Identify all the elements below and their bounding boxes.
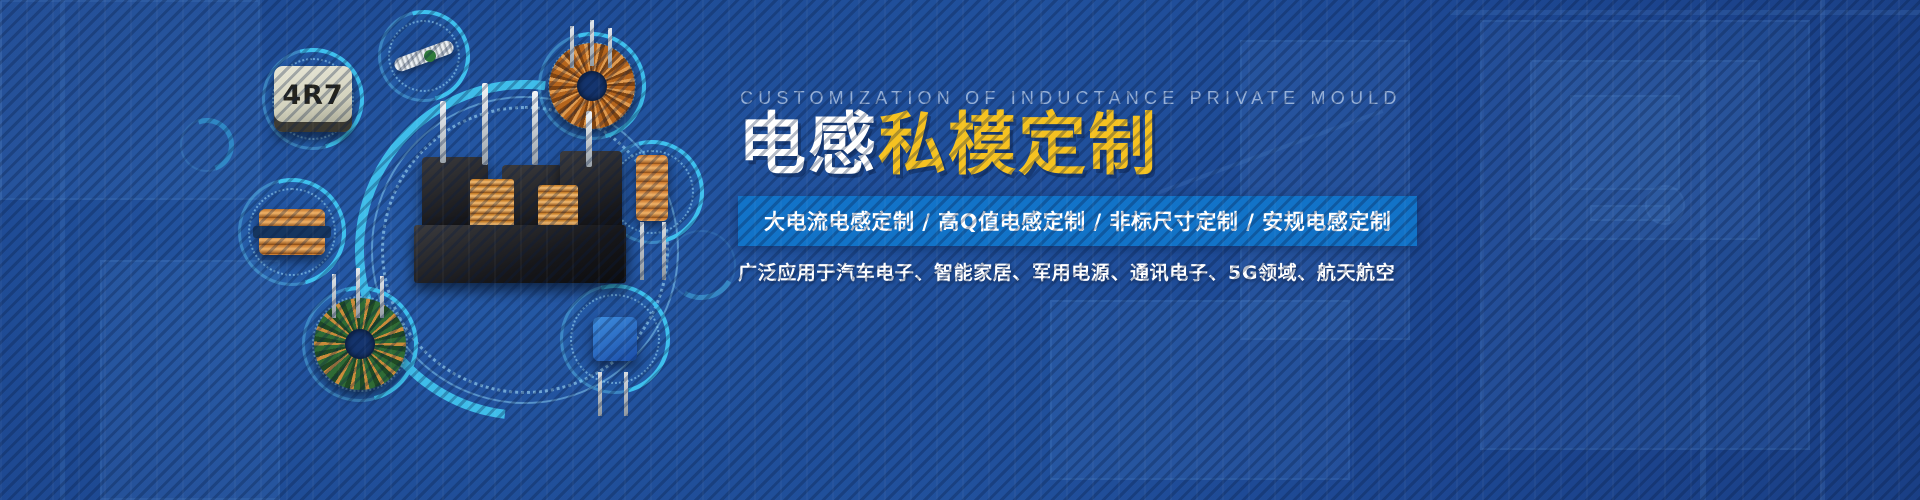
application-description: 广泛应用于汽车电子、智能家居、军用电源、通讯电子、5G领域、航天航空 bbox=[738, 258, 1395, 285]
ring-accent-small-2 bbox=[666, 230, 736, 300]
product-large-common-mode-choke-cluster bbox=[410, 105, 640, 295]
product-air-core-coil bbox=[378, 10, 470, 102]
smd-chip: 4R7 bbox=[274, 66, 352, 132]
page-title: 电感私模定制 bbox=[738, 108, 1158, 184]
product-green-toroidal-inductor bbox=[302, 286, 418, 402]
product-blue-radial-inductor bbox=[560, 284, 670, 394]
banner-text-block: CUSTOMIZATION OF INDUCTANCE PRIVATE MOUL… bbox=[738, 0, 1858, 500]
ring-accent-small bbox=[180, 118, 234, 172]
product-smd-power-inductor: 4R7 bbox=[262, 48, 364, 150]
feature-bar-text: 大电流电感定制 / 高Q值电感定制 / 非标尺寸定制 / 安规电感定制 bbox=[764, 206, 1391, 236]
smd-marking-label: 4R7 bbox=[282, 80, 343, 111]
product-drum-core-inductor bbox=[238, 178, 346, 286]
promo-banner: 4R7 bbox=[0, 0, 1920, 500]
feature-highlight-bar[interactable]: 大电流电感定制 / 高Q值电感定制 / 非标尺寸定制 / 安规电感定制 bbox=[738, 196, 1417, 246]
title-white-part: 电感 bbox=[738, 106, 878, 185]
title-yellow-part: 私模定制 bbox=[878, 106, 1158, 185]
